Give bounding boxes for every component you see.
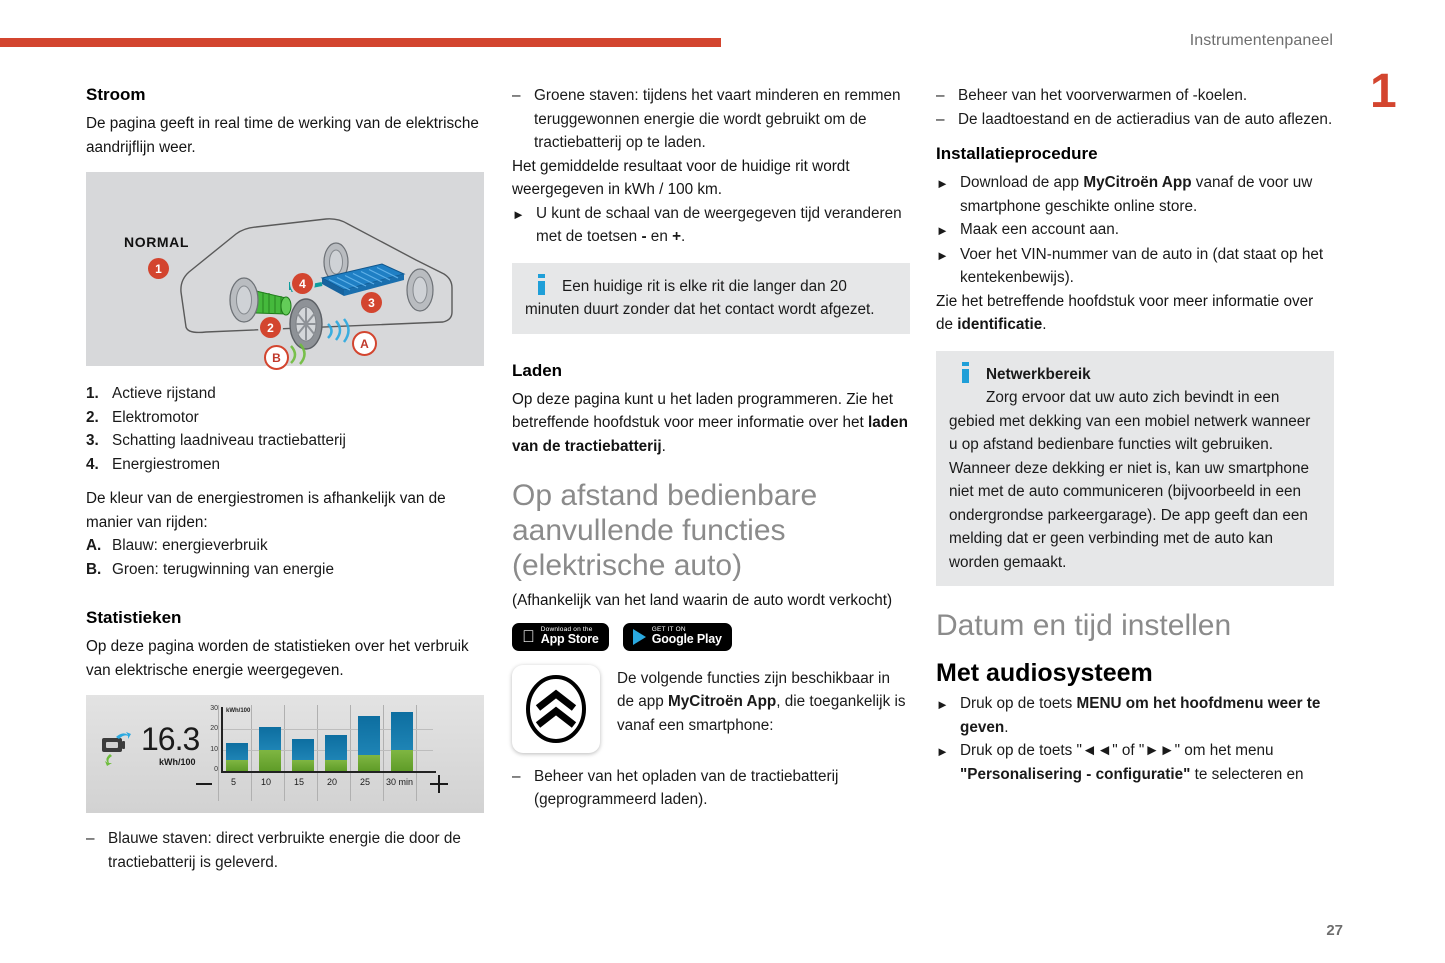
chart-y-axis: [221, 707, 223, 771]
list-item-label: Actieve rijstand: [112, 382, 484, 406]
menu-part1: Druk op de toets: [960, 695, 1077, 712]
dash-label: De laadtoestand en de actieradius van de…: [958, 108, 1334, 132]
manual-page: Instrumentenpaneel 1 27 Stroom De pagina…: [0, 0, 1445, 963]
download-part1: Download de app: [960, 174, 1083, 191]
arrow-marker: ►: [936, 739, 960, 786]
menu-part2: .: [1004, 719, 1008, 736]
app-store-button[interactable]:  Download on the App Store: [512, 623, 609, 651]
arrow-label-part2: en: [647, 228, 673, 245]
list-item: 1. Actieve rijstand: [86, 382, 484, 406]
arrow-label-part1: U kunt de schaal van de weergegeven tijd…: [536, 205, 902, 246]
heading-installatieprocedure: Installatieprocedure: [936, 143, 1334, 164]
info-icon: [962, 362, 969, 383]
bar-group-5: [226, 743, 248, 771]
dash-marker: –: [512, 765, 534, 812]
identificatie-bold: identificatie: [957, 316, 1042, 333]
dash-label: Beheer van het voorverwarmen of -koelen.: [958, 84, 1334, 108]
download-bold: MyCitroën App: [1083, 174, 1191, 191]
info-box-body: NetwerkbereikZorg ervoor dat uw auto zic…: [949, 362, 1321, 575]
dash-marker: –: [86, 827, 108, 874]
list-item: 2. Elektromotor: [86, 406, 484, 430]
store-badges:  Download on the App Store GET IT ON Go…: [512, 623, 910, 651]
dash-item-voorverwarmen: – Beheer van het voorverwarmen of -koele…: [936, 84, 1334, 108]
bar-group-15: [292, 739, 314, 771]
statistics-unit: kWh/100: [159, 757, 199, 767]
arrow-item-account: ► Maak een account aan.: [936, 218, 1334, 243]
list-item-label: Energiestromen: [112, 453, 484, 477]
list-item-marker: A.: [86, 534, 112, 558]
paragraph-laden-part1: Op deze pagina kunt u het laden programm…: [512, 391, 893, 432]
dash-item-laadtoestand: – De laadtoestand en de actieradius van …: [936, 108, 1334, 132]
y-tick-10: 10: [202, 746, 218, 753]
header-accent-rule: [0, 38, 721, 47]
consumption-bar-chart: 30 20 10 0 kWh/100: [196, 705, 458, 805]
arrow-label-part3: .: [681, 228, 685, 245]
arrow-label: Voer het VIN-nummer van de auto in (dat …: [960, 243, 1334, 290]
list-item: 4. Energiestromen: [86, 453, 484, 477]
arrow-label: U kunt de schaal van de weergegeven tijd…: [536, 202, 910, 249]
info-box-text: Een huidige rit is elke rit die langer d…: [525, 278, 875, 319]
bar-group-30: [391, 712, 413, 771]
arrow-marker: ►: [936, 218, 960, 243]
rewind-icon: ◄◄: [1082, 742, 1112, 759]
list-item-label: Groen: terugwinning van energie: [112, 558, 484, 582]
info-box-netwerkbereik: NetwerkbereikZorg ervoor dat uw auto zic…: [936, 351, 1334, 587]
citroen-logo-icon: [525, 674, 587, 744]
list-item: 3. Schatting laadniveau tractiebatterij: [86, 429, 484, 453]
citroen-logo-box: [512, 665, 600, 753]
list-item-label: Blauw: energieverbruik: [112, 534, 484, 558]
arrow-label: Druk op de toets "◄◄" of "►►" om het men…: [960, 739, 1334, 786]
list-item-marker: 3.: [86, 429, 112, 453]
powertrain-illustration: [86, 172, 484, 366]
chart-x-axis: [221, 771, 436, 773]
heading-stroom: Stroom: [86, 84, 484, 105]
google-play-big-label: Google Play: [652, 633, 722, 646]
heading-met-audiosysteem: Met audiosysteem: [936, 658, 1334, 688]
list-item-marker: 2.: [86, 406, 112, 430]
numbered-list: 1. Actieve rijstand 2. Elektromotor 3. S…: [86, 382, 484, 476]
mycitroen-app-text: De volgende functies zijn beschikbaar in…: [617, 665, 910, 738]
info-box-body: Een huidige rit is elke rit die langer d…: [525, 274, 897, 322]
arrow-marker: ►: [936, 243, 960, 290]
arrow-label: Druk op de toets MENU om het hoofdmenu w…: [960, 692, 1334, 739]
arrow-item-schaal: ► U kunt de schaal van de weergegeven ti…: [512, 202, 910, 249]
arrow-marker: ►: [512, 202, 536, 249]
mycitroen-app-block: De volgende functies zijn beschikbaar in…: [512, 665, 910, 753]
bar-group-20: [325, 735, 347, 771]
paragraph-identificatie: Zie het betreffende hoofdstuk voor meer …: [936, 290, 1334, 337]
arrow-item-vin: ► Voer het VIN-nummer van de auto in (da…: [936, 243, 1334, 290]
arrow-item-personalisering: ► Druk op de toets "◄◄" of "►►" om het m…: [936, 739, 1334, 786]
page-header-title: Instrumentenpaneel: [1190, 32, 1333, 50]
pers-part3: " om het menu: [1175, 742, 1274, 759]
arrow-marker: ►: [936, 692, 960, 739]
paragraph-statistieken: Op deze pagina worden de statistieken ov…: [86, 635, 484, 682]
callout-badge-1: 1: [148, 258, 169, 279]
list-item-label: Elektromotor: [112, 406, 484, 430]
pers-part2: " of ": [1112, 742, 1144, 759]
identificatie-part2: .: [1042, 316, 1046, 333]
heading-statistieken: Statistieken: [86, 607, 484, 628]
fast-forward-icon: ►►: [1144, 742, 1174, 759]
figure-powertrain: NORMAL: [86, 172, 484, 366]
pers-bold: "Personalisering - configuratie": [960, 766, 1190, 783]
pers-part4: te selecteren en: [1190, 766, 1303, 783]
heading-laden: Laden: [512, 360, 910, 381]
pers-part1: Druk op de toets ": [960, 742, 1082, 759]
heading-remote-functions: Op afstand bedienbare aanvullende functi…: [512, 478, 910, 583]
chart-plus-button[interactable]: [430, 775, 448, 793]
paragraph-kleur: De kleur van de energiestromen is afhank…: [86, 487, 484, 534]
apple-icon: : [522, 628, 535, 645]
logo-text-bold: MyCitroën App: [668, 693, 776, 710]
callout-badge-4: 4: [292, 273, 313, 294]
callout-badge-b: B: [264, 345, 289, 370]
x-tick-15: 15: [294, 777, 304, 787]
page-number: 27: [1326, 922, 1343, 939]
list-item-label: Schatting laadniveau tractiebatterij: [112, 429, 484, 453]
paragraph-laden-part2: .: [662, 438, 666, 455]
app-store-big-label: App Store: [541, 633, 599, 646]
column-right: – Beheer van het voorverwarmen of -koele…: [936, 84, 1334, 786]
callout-badge-3: 3: [361, 292, 382, 313]
statistics-readout: 16.3 kWh/100: [100, 723, 199, 767]
y-tick-20: 20: [202, 725, 218, 732]
paragraph-gemiddelde: Het gemiddelde resultaat voor de huidige…: [512, 155, 910, 202]
info-box-title: Netwerkbereik: [986, 366, 1091, 383]
column-left: Stroom De pagina geeft in real time de w…: [86, 84, 484, 874]
info-icon: [538, 274, 545, 295]
list-item-marker: 1.: [86, 382, 112, 406]
chart-y-axis-label: kWh/100: [226, 708, 250, 714]
list-item-marker: 4.: [86, 453, 112, 477]
x-tick-30: 30 min: [386, 777, 413, 787]
arrow-label: Download de app MyCitroën App vanaf de v…: [960, 171, 1334, 218]
dash-marker: –: [512, 84, 534, 155]
arrow-marker: ►: [936, 171, 960, 218]
paragraph-remote-sub: (Afhankelijk van het land waarin de auto…: [512, 589, 910, 613]
column-middle: – Groene staven: tijdens het vaart minde…: [512, 84, 910, 812]
key-plus: +: [672, 228, 681, 245]
x-tick-25: 25: [360, 777, 370, 787]
paragraph-stroom: De pagina geeft in real time de werking …: [86, 112, 484, 159]
google-play-button[interactable]: GET IT ON Google Play: [623, 623, 732, 651]
info-box-text-2: Wanneer deze dekking er niet is, kan uw …: [949, 460, 1309, 571]
heading-datum-tijd: Datum en tijd instellen: [936, 608, 1334, 643]
letter-list: A. Blauw: energieverbruik B. Groen: teru…: [86, 534, 484, 581]
battery-consumption-icon: [100, 726, 134, 766]
figure-statistics: 16.3 kWh/100 30 20 10 0 kWh/100: [86, 695, 484, 813]
dash-marker: –: [936, 108, 958, 132]
list-item-marker: B.: [86, 558, 112, 582]
chapter-number-tab: 1: [1370, 68, 1397, 116]
bar-group-25: [358, 716, 380, 771]
dash-label: Groene staven: tijdens het vaart mindere…: [534, 84, 910, 155]
x-tick-10: 10: [261, 777, 271, 787]
callout-badge-2: 2: [260, 317, 281, 338]
paragraph-laden: Op deze pagina kunt u het laden programm…: [512, 388, 910, 459]
x-tick-20: 20: [327, 777, 337, 787]
arrow-label: Maak een account aan.: [960, 218, 1334, 243]
arrow-item-download: ► Download de app MyCitroën App vanaf de…: [936, 171, 1334, 218]
dash-item-beheer-opladen: – Beheer van het opladen van de tractieb…: [512, 765, 910, 812]
info-box-huidige-rit: Een huidige rit is elke rit die langer d…: [512, 263, 910, 334]
y-tick-30: 30: [202, 705, 218, 712]
chart-minus-button[interactable]: [196, 783, 212, 785]
dash-item-blauwe-staven: – Blauwe staven: direct verbruikte energ…: [86, 827, 484, 874]
dash-marker: –: [936, 84, 958, 108]
statistics-value: 16.3: [141, 723, 199, 755]
info-box-text-1: Zorg ervoor dat uw auto zich bevindt in …: [949, 389, 1310, 453]
list-item: A. Blauw: energieverbruik: [86, 534, 484, 558]
dash-item-groene-staven: – Groene staven: tijdens het vaart minde…: [512, 84, 910, 155]
dash-label: Beheer van het opladen van de tractiebat…: [534, 765, 910, 812]
x-tick-5: 5: [231, 777, 236, 787]
dash-label: Blauwe staven: direct verbruikte energie…: [108, 827, 484, 874]
arrow-item-menu: ► Druk op de toets MENU om het hoofdmenu…: [936, 692, 1334, 739]
google-play-icon: [633, 629, 646, 645]
y-tick-0: 0: [202, 766, 218, 773]
callout-badge-a: A: [352, 331, 377, 356]
list-item: B. Groen: terugwinning van energie: [86, 558, 484, 582]
bar-group-10: [259, 727, 281, 771]
